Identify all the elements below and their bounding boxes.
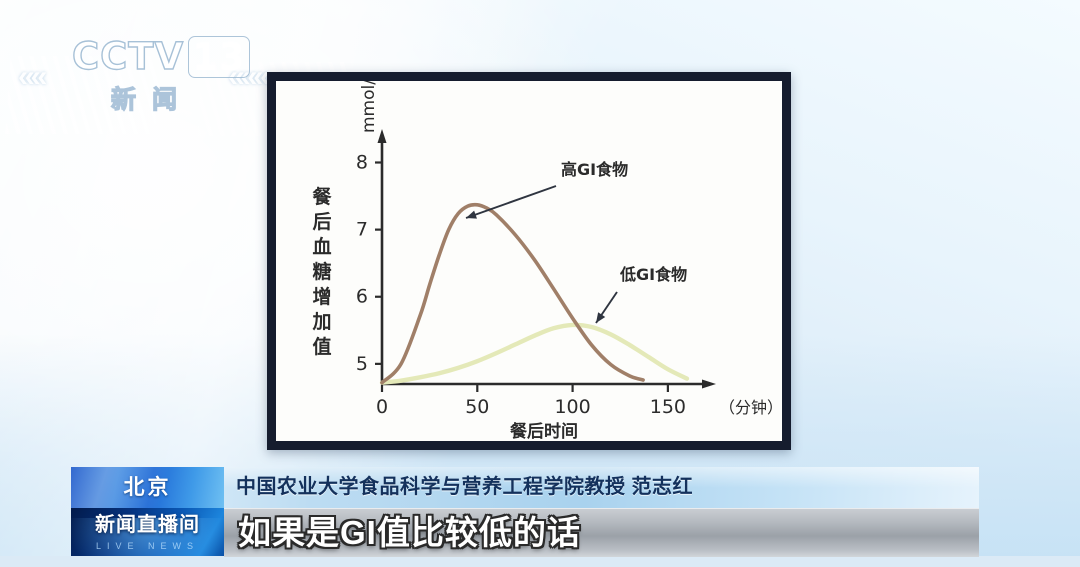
x-tick-label: 50 — [465, 396, 489, 418]
x-axis-unit-label: （分钟） — [719, 398, 782, 417]
annotation-high-gi-label: 高GI食物 — [561, 160, 628, 179]
y-axis-title-char: 增 — [312, 285, 331, 308]
y-axis-unit-label: mmol/l — [359, 81, 379, 133]
chevron-left-icon: «« — [18, 62, 43, 92]
y-tick-label: 7 — [356, 219, 368, 241]
x-axis-tick-labels: 050100150 — [376, 396, 686, 418]
x-axis-title: 餐后时间 — [510, 421, 578, 441]
annotation-high-gi: 高GI食物 — [466, 160, 628, 219]
blood-glucose-response-chart: 5678 050100150 高GI食物 低GI食物 mmol/l （分钟） 餐… — [276, 81, 782, 441]
subtitle-label: 如果是GI值比较低的话 — [224, 509, 979, 557]
channel-logo: CCTV13 新闻 — [72, 36, 232, 110]
y-axis-title-char: 值 — [312, 335, 331, 358]
annotation-low-gi-label: 低GI食物 — [619, 265, 687, 284]
channel-logo-number: 13 — [188, 36, 250, 78]
location-label: 北京 — [71, 467, 224, 508]
chart-frame: 5678 050100150 高GI食物 低GI食物 mmol/l （分钟） 餐… — [267, 72, 791, 450]
guest-title-label: 中国农业大学食品科学与营养工程学院教授 范志红 — [224, 467, 979, 508]
subtitle-bar: 如果是GI值比较低的话 — [224, 508, 979, 557]
lower-third-banner: 北京 中国农业大学食品科学与营养工程学院教授 范志红 新闻直播间 LIVE NE… — [71, 467, 979, 556]
program-label: 新闻直播间 — [71, 508, 224, 542]
y-axis-tick-labels: 5678 — [356, 151, 368, 374]
program-sublabel: LIVE NEWS — [71, 542, 224, 551]
y-axis-title-char: 糖 — [312, 260, 331, 283]
program-badge: 新闻直播间 LIVE NEWS — [71, 508, 224, 556]
guest-title-bar: 中国农业大学食品科学与营养工程学院教授 范志红 — [224, 467, 979, 508]
y-tick-label: 8 — [356, 151, 368, 173]
y-axis-title: 餐后血糖增加值 — [311, 185, 332, 358]
series-low-gi-curve — [382, 325, 687, 383]
series-high-gi-curve — [382, 205, 643, 383]
annotation-low-gi: 低GI食物 — [596, 265, 687, 323]
x-tick-label: 0 — [376, 396, 388, 418]
y-tick-label: 6 — [356, 286, 368, 308]
y-axis-title-char: 餐 — [312, 185, 332, 208]
x-tick-label: 150 — [650, 396, 686, 418]
y-tick-label: 5 — [356, 353, 368, 375]
channel-logo-name-cn: 新闻 — [72, 80, 232, 116]
y-axis-title-char: 加 — [311, 311, 331, 333]
chart-canvas: 5678 050100150 高GI食物 低GI食物 mmol/l （分钟） 餐… — [276, 81, 782, 441]
y-axis-title-char: 血 — [312, 235, 331, 258]
chart-axes — [378, 129, 717, 389]
channel-logo-cctv: CCTV — [72, 35, 184, 78]
x-tick-label: 100 — [554, 396, 590, 418]
channel-logo-text: CCTV13 — [72, 36, 232, 78]
location-badge: 北京 — [71, 467, 224, 508]
y-axis-title-char: 后 — [312, 211, 331, 233]
